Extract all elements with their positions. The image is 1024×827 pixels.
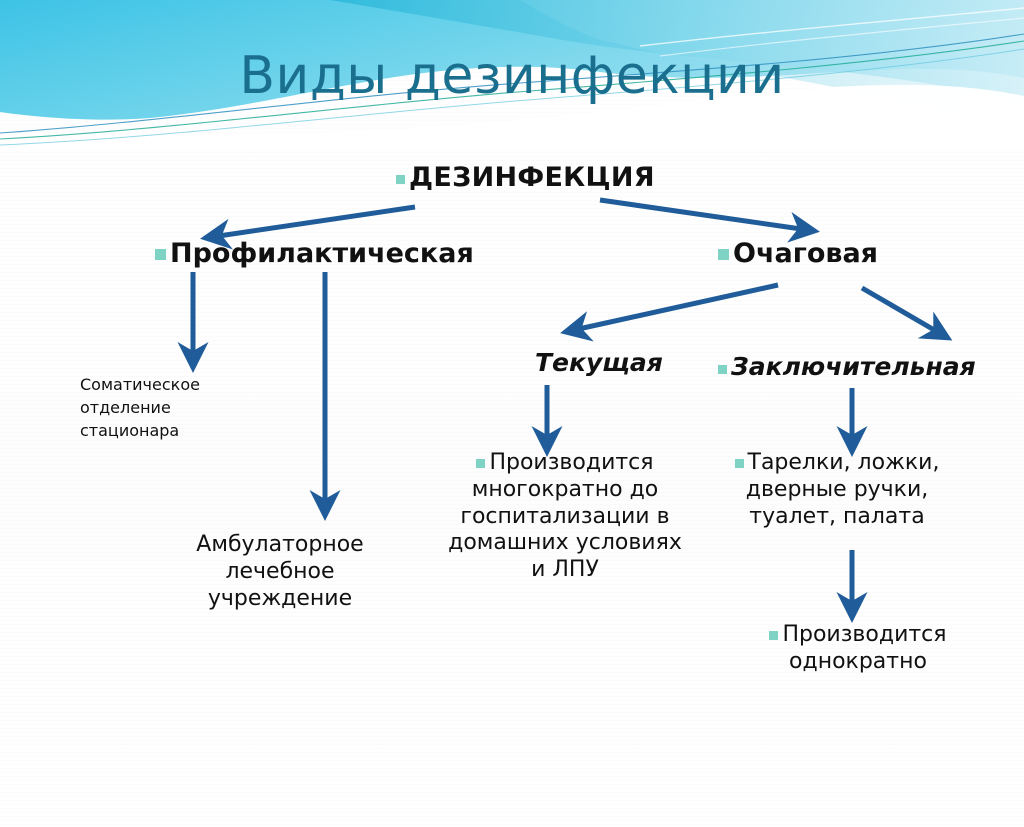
bullet-square-icon bbox=[476, 459, 485, 468]
node-label: Заключительная bbox=[731, 352, 976, 381]
bullet-square-icon bbox=[155, 249, 166, 260]
bullet-square-icon bbox=[396, 175, 405, 184]
node-label: Соматическое отделение стационара bbox=[80, 375, 200, 440]
slide-canvas: Виды дезинфекции bbox=[0, 0, 1024, 827]
node-label: Производится однократно bbox=[782, 622, 946, 674]
edge-root-to-profilakticheskaya bbox=[205, 207, 415, 238]
bullet-square-icon bbox=[718, 365, 727, 374]
node-label: Профилактическая bbox=[170, 238, 474, 269]
node-tekushchaya: Текущая bbox=[535, 348, 663, 379]
bullet-square-icon bbox=[718, 249, 729, 260]
node-somaticheskoe-otdelenie: Соматическое отделение стационара bbox=[80, 373, 270, 443]
node-label: Текущая bbox=[535, 348, 663, 377]
node-zaklyuchitelnaya: Заключительная bbox=[718, 352, 976, 383]
node-profilakticheskaya: Профилактическая bbox=[155, 238, 474, 271]
node-tarelki-lozhki: Тарелки, ложки, дверные ручки, туалет, п… bbox=[722, 450, 952, 530]
node-proizvoditsya-odnokratno: Производится однократно bbox=[758, 622, 958, 676]
node-label: Очаговая bbox=[733, 238, 878, 269]
node-ambulatornoe-uchrezhdenie: Амбулаторное лечебное учреждение bbox=[180, 532, 380, 612]
node-dezinfektsiya: ДЕЗИНФЕКЦИЯ bbox=[396, 162, 655, 195]
slide-title: Виды дезинфекции bbox=[0, 46, 1024, 106]
node-label: ДЕЗИНФЕКЦИЯ bbox=[409, 162, 655, 193]
node-label: Амбулаторное лечебное учреждение bbox=[196, 532, 363, 611]
edge-root-to-ochagovaya bbox=[600, 200, 815, 231]
node-proizvoditsya-mnogokratno: Производится многократно до госпитализац… bbox=[440, 450, 690, 584]
edge-ochag-to-zaklyuchitelnaya bbox=[862, 288, 948, 338]
bullet-square-icon bbox=[735, 459, 744, 468]
node-label: Тарелки, ложки, дверные ручки, туалет, п… bbox=[746, 450, 940, 529]
bullet-square-icon bbox=[769, 631, 778, 640]
node-label: Производится многократно до госпитализац… bbox=[448, 450, 682, 582]
node-ochagovaya: Очаговая bbox=[718, 238, 878, 271]
edge-ochag-to-tekushchaya bbox=[565, 285, 778, 332]
